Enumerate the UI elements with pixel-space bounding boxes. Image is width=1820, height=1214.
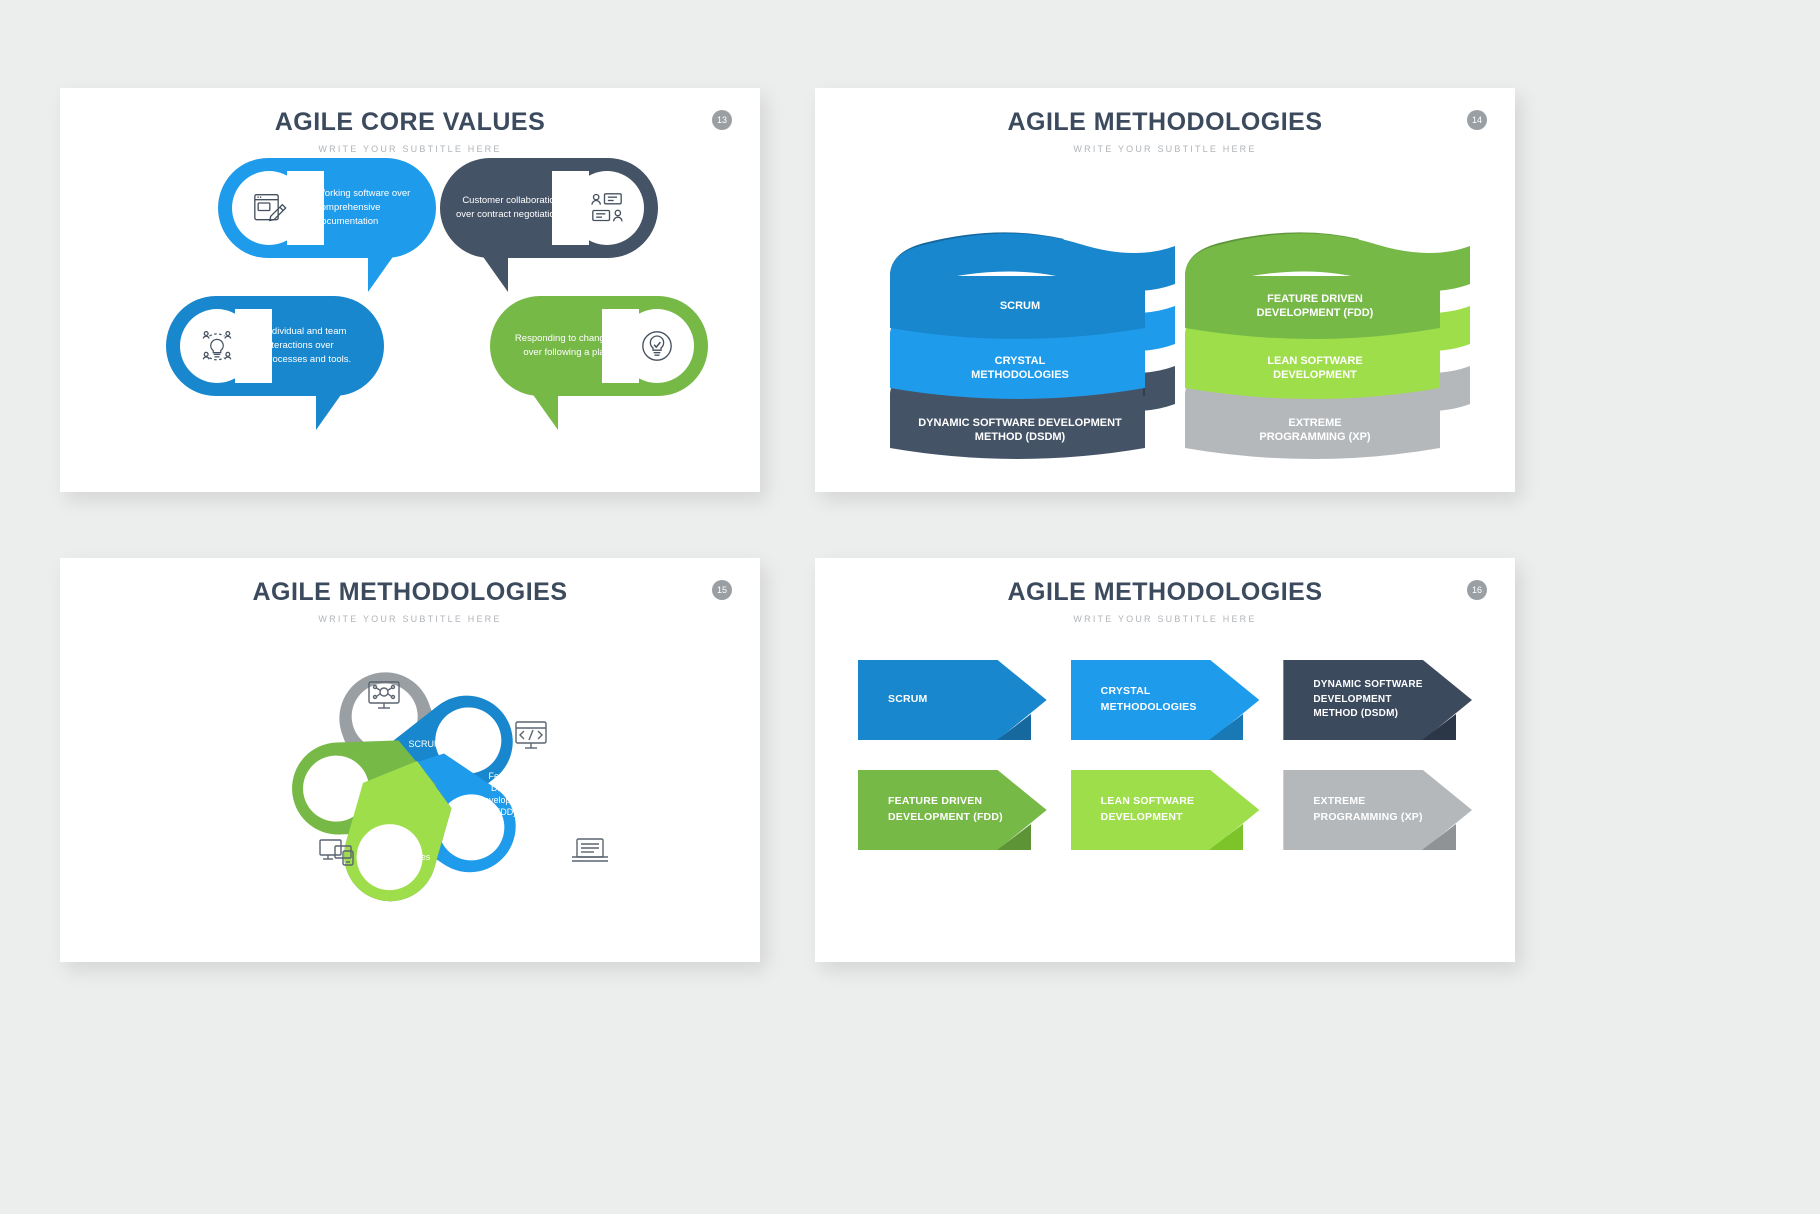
slide-agile-methodologies-pinwheel[interactable]: AGILE METHODOLOGIES WRITE YOUR SUBTITLE … (60, 558, 760, 962)
methodology-tag-grid: SCRUM CRYSTAL METHODOLOGIES DYNAMIC SOFT… (858, 660, 1472, 850)
tag-crystal-methodologies[interactable]: CRYSTAL METHODOLOGIES (1071, 660, 1260, 740)
svg-text:Methodologies: Methodologies (372, 852, 431, 862)
svg-text:DEVELOPMENT: DEVELOPMENT (1273, 369, 1357, 381)
pinwheel-diagram: SCRUM Feature Driven Development (FDD) L… (60, 624, 760, 934)
svg-text:Method (DSDM): Method (DSDM) (393, 934, 458, 936)
slide-agile-methodologies-spiral[interactable]: AGILE METHODOLOGIES WRITE YOUR SUBTITLE … (815, 88, 1515, 492)
svg-text:CRYSTAL: CRYSTAL (995, 355, 1046, 367)
page-subtitle: WRITE YOUR SUBTITLE HERE (60, 614, 760, 624)
page-title: AGILE CORE VALUES (60, 108, 760, 137)
svg-text:LEAN SOFTWARE: LEAN SOFTWARE (1267, 355, 1362, 367)
bubble-label: Working software over comprehensive docu… (306, 187, 436, 228)
petal-label-crystal: Crystal (387, 840, 415, 850)
svg-text:DEVELOPMENT (FDD): DEVELOPMENT (FDD) (1257, 307, 1374, 319)
petal-label-xp: Extreme (478, 911, 512, 921)
page-number-badge: 16 (1467, 580, 1487, 600)
svg-text:Programming: Programming (468, 923, 522, 933)
code-monitor-icon (516, 722, 546, 748)
laptop-icon (572, 839, 608, 861)
bubble-label: Customer collaboration over contract neg… (440, 194, 570, 222)
page-subtitle: WRITE YOUR SUBTITLE HERE (815, 614, 1515, 624)
band-label: SCRUM (1000, 300, 1040, 312)
svg-text:FEATURE DRIVEN: FEATURE DRIVEN (1267, 293, 1363, 305)
right-spiral: FEATURE DRIVEN DEVELOPMENT (FDD) LEAN SO… (1185, 232, 1470, 459)
tag-extreme-programming[interactable]: EXTREME PROGRAMMING (XP) (1283, 770, 1472, 850)
page-title: AGILE METHODOLOGIES (60, 578, 760, 607)
slide-agile-core-values[interactable]: AGILE CORE VALUES WRITE YOUR SUBTITLE HE… (60, 88, 760, 492)
tag-label: DYNAMIC SOFTWARE DEVELOPMENT METHOD (DSD… (1313, 660, 1431, 740)
petal-label-fdd: Feature (488, 771, 519, 781)
left-spiral: SCRUM CRYSTAL METHODOLOGIES DYNAMIC SOFT… (890, 232, 1175, 459)
petal-label-dsdm: Dynamic Software (389, 910, 462, 920)
tag-dsdm[interactable]: DYNAMIC SOFTWARE DEVELOPMENT METHOD (DSD… (1283, 660, 1472, 740)
page-subtitle: WRITE YOUR SUBTITLE HERE (60, 144, 760, 154)
page-number-badge: 13 (712, 110, 732, 130)
svg-text:Driven: Driven (491, 783, 517, 793)
page-title: AGILE METHODOLOGIES (815, 108, 1515, 137)
svg-text:(XP): (XP) (486, 935, 504, 936)
document-edit-icon (232, 171, 306, 245)
page-number-badge: 15 (712, 580, 732, 600)
petal-label-scrum: SCRUM (409, 739, 442, 749)
svg-text:Development: Development (477, 795, 531, 805)
svg-text:PROGRAMMING (XP): PROGRAMMING (XP) (1259, 431, 1371, 443)
svg-text:Development: Development (399, 922, 453, 932)
page-title: AGILE METHODOLOGIES (815, 578, 1515, 607)
page-number-badge: 14 (1467, 110, 1487, 130)
bubble-working-software[interactable]: Working software over comprehensive docu… (218, 158, 436, 258)
core-values-bubbles: Working software over comprehensive docu… (60, 154, 760, 454)
bubble-label: Individual and team interactions over pr… (254, 325, 384, 366)
slide-deck: AGILE CORE VALUES WRITE YOUR SUBTITLE HE… (0, 0, 1820, 1214)
bubble-label: Responding to change over following a pl… (490, 332, 620, 360)
bubble-customer-collaboration[interactable]: Customer collaboration over contract neg… (440, 158, 658, 258)
customer-cards-icon (570, 171, 644, 245)
bubble-individual-interactions[interactable]: Individual and team interactions over pr… (166, 296, 384, 396)
slide-agile-methodologies-tags[interactable]: AGILE METHODOLOGIES WRITE YOUR SUBTITLE … (815, 558, 1515, 962)
tag-lean-software-development[interactable]: LEAN SOFTWARE DEVELOPMENT (1071, 770, 1260, 850)
svg-text:Development: Development (503, 894, 557, 904)
svg-text:METHODOLOGIES: METHODOLOGIES (971, 369, 1069, 381)
tag-label: FEATURE DRIVEN DEVELOPMENT (FDD) (888, 770, 1006, 850)
svg-text:METHOD (DSDM): METHOD (DSDM) (975, 431, 1066, 443)
spiral-ribbons: SCRUM CRYSTAL METHODOLOGIES DYNAMIC SOFT… (815, 154, 1515, 454)
team-idea-icon (180, 309, 254, 383)
lightbulb-check-icon (620, 309, 694, 383)
tag-label: SCRUM (888, 660, 1006, 740)
tag-label: EXTREME PROGRAMMING (XP) (1313, 770, 1431, 850)
svg-text:DYNAMIC SOFTWARE DEVELOPMENT: DYNAMIC SOFTWARE DEVELOPMENT (918, 417, 1122, 429)
page-subtitle: WRITE YOUR SUBTITLE HERE (815, 144, 1515, 154)
tag-feature-driven-development[interactable]: FEATURE DRIVEN DEVELOPMENT (FDD) (858, 770, 1047, 850)
tag-label: CRYSTAL METHODOLOGIES (1101, 660, 1219, 740)
bubble-responding-to-change[interactable]: Responding to change over following a pl… (490, 296, 708, 396)
tag-scrum[interactable]: SCRUM (858, 660, 1047, 740)
svg-text:EXTREME: EXTREME (1288, 417, 1341, 429)
petal-label-lean: Lean Software (501, 882, 559, 892)
tag-label: LEAN SOFTWARE DEVELOPMENT (1101, 770, 1219, 850)
svg-text:(FDD): (FDD) (492, 807, 517, 817)
